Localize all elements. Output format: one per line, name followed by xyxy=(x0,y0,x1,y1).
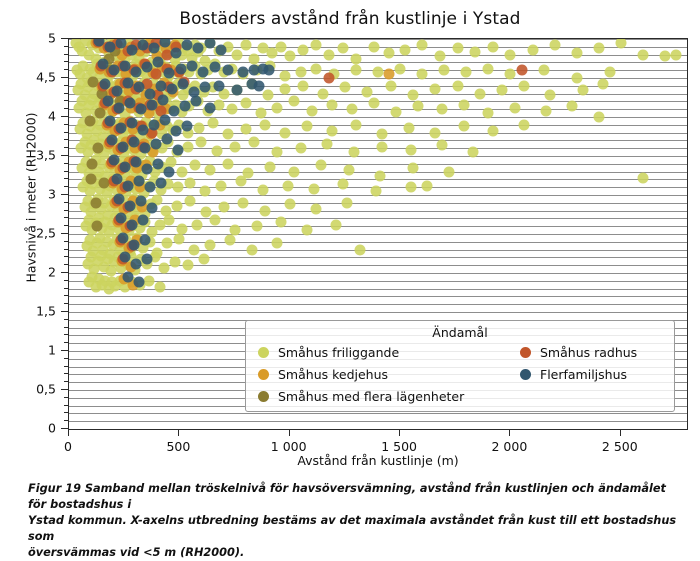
x-tick-major xyxy=(620,430,621,436)
scatter-point xyxy=(185,177,196,188)
scatter-point xyxy=(209,62,220,73)
y-tick-minor xyxy=(64,132,68,133)
scatter-point xyxy=(253,80,264,91)
scatter-point xyxy=(104,115,115,126)
scatter-point xyxy=(339,82,350,93)
scatter-point xyxy=(505,49,516,60)
y-tick-minor xyxy=(64,420,68,421)
y-tick-minor xyxy=(64,288,68,289)
scatter-point xyxy=(126,219,137,230)
scatter-point xyxy=(140,143,151,154)
scatter-point xyxy=(182,40,193,51)
scatter-point xyxy=(317,88,328,99)
scatter-point xyxy=(164,166,175,177)
scatter-point xyxy=(126,118,137,129)
scatter-point xyxy=(143,275,154,286)
scatter-point xyxy=(129,137,140,148)
scatter-point xyxy=(214,80,225,91)
scatter-point xyxy=(373,66,384,77)
caption-line: Ystad kommun. X-axelns utbredning bestäm… xyxy=(28,513,678,545)
scatter-point xyxy=(153,57,164,68)
y-tick-label: 5 xyxy=(48,31,56,46)
scatter-point xyxy=(166,83,177,94)
scatter-point xyxy=(271,102,282,113)
scatter-point xyxy=(149,119,160,130)
scatter-point xyxy=(604,66,615,77)
scatter-point xyxy=(137,39,148,50)
scatter-point xyxy=(298,44,309,55)
scatter-point xyxy=(430,83,441,94)
scatter-point xyxy=(326,126,337,137)
scatter-point xyxy=(487,41,498,52)
scatter-point xyxy=(135,196,146,207)
y-tick-minor xyxy=(64,210,68,211)
y-tick-minor xyxy=(64,69,68,70)
y-tick-minor xyxy=(64,241,68,242)
x-tick-major xyxy=(289,430,290,436)
y-tick-minor xyxy=(64,366,68,367)
scatter-point xyxy=(417,40,428,51)
scatter-point xyxy=(151,69,162,80)
x-tick-major xyxy=(178,430,179,436)
y-tick-label: 0 xyxy=(48,421,56,436)
scatter-point xyxy=(571,48,582,59)
scatter-point xyxy=(275,216,286,227)
x-tick-label: 500 xyxy=(166,439,190,454)
scatter-point xyxy=(216,180,227,191)
scatter-point xyxy=(240,98,251,109)
legend-item[interactable]: Småhus med flera lägenheter xyxy=(258,389,464,404)
scatter-point xyxy=(375,170,386,181)
y-tick-minor xyxy=(64,412,68,413)
scatter-point xyxy=(355,244,366,255)
scatter-point xyxy=(209,215,220,226)
scatter-point xyxy=(350,54,361,65)
legend-swatch-icon xyxy=(258,347,269,358)
y-tick-major xyxy=(61,389,68,390)
scatter-point xyxy=(247,244,258,255)
y-tick-minor xyxy=(64,171,68,172)
y-tick-label: 3 xyxy=(48,187,56,202)
y-axis-title: Havsnivå i meter (RH2000) xyxy=(24,3,39,393)
scatter-point xyxy=(92,143,103,154)
y-tick-minor xyxy=(64,256,68,257)
scatter-point xyxy=(578,84,589,95)
y-tick-label: 2,5 xyxy=(36,226,56,241)
scatter-point xyxy=(172,200,183,211)
scatter-point xyxy=(412,101,423,112)
scatter-point xyxy=(155,177,166,188)
scatter-point xyxy=(598,79,609,90)
y-tick-major xyxy=(61,233,68,234)
scatter-point xyxy=(140,235,151,246)
x-tick-label: 1 000 xyxy=(271,439,307,454)
scatter-point xyxy=(198,254,209,265)
legend-label: Småhus kedjehus xyxy=(278,367,388,382)
scatter-point xyxy=(185,196,196,207)
legend-items: Småhus friliggandeSmåhus kedjehusSmåhus … xyxy=(252,343,668,405)
scatter-point xyxy=(109,154,120,165)
scatter-point xyxy=(271,147,282,158)
scatter-point xyxy=(437,104,448,115)
scatter-point xyxy=(540,105,551,116)
scatter-point xyxy=(377,129,388,140)
scatter-point xyxy=(337,179,348,190)
scatter-point xyxy=(275,41,286,52)
scatter-point xyxy=(238,66,249,77)
scatter-point xyxy=(122,271,133,282)
scatter-point xyxy=(342,197,353,208)
scatter-point xyxy=(386,80,397,91)
scatter-point xyxy=(324,49,335,60)
y-tick-minor xyxy=(64,327,68,328)
scatter-point xyxy=(571,73,582,84)
scatter-point xyxy=(153,158,164,169)
y-tick-major xyxy=(61,155,68,156)
scatter-point xyxy=(174,233,185,244)
legend-label: Småhus friliggande xyxy=(278,345,399,360)
scatter-point xyxy=(149,43,160,54)
y-tick-major xyxy=(61,428,68,429)
scatter-point xyxy=(282,180,293,191)
legend-label: Småhus radhus xyxy=(540,345,637,360)
scatter-point xyxy=(154,282,165,293)
scatter-point xyxy=(637,49,648,60)
scatter-point xyxy=(280,83,291,94)
scatter-point xyxy=(421,180,432,191)
scatter-point xyxy=(197,66,208,77)
scatter-point xyxy=(131,258,142,269)
scatter-point xyxy=(350,119,361,130)
scatter-point xyxy=(368,98,379,109)
scatter-point xyxy=(567,101,578,112)
y-tick-minor xyxy=(64,280,68,281)
scatter-point xyxy=(137,215,148,226)
y-tick-major xyxy=(61,194,68,195)
x-tick-label: 2 500 xyxy=(602,439,638,454)
scatter-point xyxy=(671,49,682,60)
y-tick-minor xyxy=(64,342,68,343)
scatter-point xyxy=(146,202,157,213)
scatter-point xyxy=(160,115,171,126)
scatter-point xyxy=(377,141,388,152)
scatter-point xyxy=(205,239,216,250)
scatter-point xyxy=(545,90,556,101)
scatter-point xyxy=(271,238,282,249)
scatter-point xyxy=(229,141,240,152)
scatter-point xyxy=(344,165,355,176)
scatter-point xyxy=(311,63,322,74)
scatter-point xyxy=(459,99,470,110)
figure-caption: Figur 19 Samband mellan tröskelnivå för … xyxy=(28,481,678,561)
scatter-point xyxy=(406,144,417,155)
scatter-point xyxy=(124,98,135,109)
y-tick-minor xyxy=(64,217,68,218)
scatter-point xyxy=(171,126,182,137)
scatter-point xyxy=(406,182,417,193)
y-tick-major xyxy=(61,116,68,117)
y-tick-minor xyxy=(64,249,68,250)
caption-line: översvämmas vid <5 m (RH2000). xyxy=(28,545,678,561)
scatter-point xyxy=(107,135,118,146)
scatter-point xyxy=(133,277,144,288)
scatter-point xyxy=(284,199,295,210)
scatter-point xyxy=(182,121,193,132)
scatter-point xyxy=(175,63,186,74)
scatter-point xyxy=(322,138,333,149)
scatter-point xyxy=(122,180,133,191)
scatter-point xyxy=(102,96,113,107)
y-tick-minor xyxy=(64,334,68,335)
scatter-point xyxy=(260,119,271,130)
scatter-point xyxy=(249,137,260,148)
scatter-point xyxy=(467,147,478,158)
scatter-point xyxy=(362,87,373,98)
y-tick-minor xyxy=(64,139,68,140)
scatter-point xyxy=(549,40,560,51)
scatter-point xyxy=(348,147,359,158)
scatter-point xyxy=(222,158,233,169)
legend-title: Ändamål xyxy=(252,325,668,340)
y-tick-label: 0,5 xyxy=(36,382,56,397)
scatter-point xyxy=(120,60,131,71)
scatter-point xyxy=(326,100,337,111)
legend-swatch-icon xyxy=(258,391,269,402)
y-tick-minor xyxy=(64,46,68,47)
scatter-point xyxy=(240,40,251,51)
scatter-point xyxy=(144,88,155,99)
scatter-point xyxy=(196,137,207,148)
y-tick-major xyxy=(61,38,68,39)
scatter-point xyxy=(289,96,300,107)
scatter-point xyxy=(403,122,414,133)
scatter-point xyxy=(216,44,227,55)
scatter-point xyxy=(142,254,153,265)
legend-item[interactable]: Flerfamiljshus xyxy=(520,367,627,382)
y-tick-label: 4 xyxy=(48,109,56,124)
scatter-point xyxy=(302,121,313,132)
scatter-point xyxy=(280,127,291,138)
scatter-point xyxy=(189,160,200,171)
scatter-point xyxy=(98,59,109,70)
scatter-point xyxy=(306,105,317,116)
x-tick-label: 0 xyxy=(64,439,72,454)
scatter-point xyxy=(295,143,306,154)
scatter-point xyxy=(331,219,342,230)
y-tick-major xyxy=(61,272,68,273)
scatter-point xyxy=(85,115,96,126)
y-tick-minor xyxy=(64,264,68,265)
scatter-point xyxy=(593,112,604,123)
scatter-point xyxy=(659,51,670,62)
scatter-point xyxy=(289,166,300,177)
legend: Ändamål Småhus friliggandeSmåhus kedjehu… xyxy=(245,320,675,412)
y-tick-minor xyxy=(64,85,68,86)
scatter-point xyxy=(186,60,197,71)
scatter-point xyxy=(337,43,348,54)
y-tick-minor xyxy=(64,405,68,406)
scatter-point xyxy=(284,51,295,62)
scatter-point xyxy=(162,238,173,249)
scatter-point xyxy=(155,80,166,91)
y-tick-major xyxy=(61,77,68,78)
y-tick-minor xyxy=(64,124,68,125)
x-tick-label: 2 000 xyxy=(491,439,527,454)
scatter-point xyxy=(193,43,204,54)
scatter-point xyxy=(126,44,137,55)
scatter-point xyxy=(346,104,357,115)
scatter-point xyxy=(483,108,494,119)
scatter-point xyxy=(133,82,144,93)
scatter-point xyxy=(115,213,126,224)
scatter-point xyxy=(509,102,520,113)
scatter-point xyxy=(225,235,236,246)
scatter-point xyxy=(86,174,97,185)
scatter-point xyxy=(169,257,180,268)
scatter-point xyxy=(176,166,187,177)
x-axis-title: Avstånd från kustlinje (m) xyxy=(68,453,688,468)
scatter-point xyxy=(295,66,306,77)
scatter-point xyxy=(231,84,242,95)
scatter-point xyxy=(100,79,111,90)
x-tick-major xyxy=(399,430,400,436)
scatter-point xyxy=(249,53,260,64)
y-tick-label: 1,5 xyxy=(36,304,56,319)
scatter-point xyxy=(199,82,210,93)
scatter-point xyxy=(144,182,155,193)
scatter-point xyxy=(315,160,326,171)
scatter-point xyxy=(179,101,190,112)
scatter-point xyxy=(368,41,379,52)
scatter-point xyxy=(302,225,313,236)
legend-swatch-icon xyxy=(258,369,269,380)
scatter-point xyxy=(218,201,229,212)
scatter-point xyxy=(384,48,395,59)
scatter-point xyxy=(90,197,101,208)
scatter-point xyxy=(109,65,120,76)
scatter-point xyxy=(439,65,450,76)
scatter-point xyxy=(459,121,470,132)
scatter-point xyxy=(408,90,419,101)
scatter-point xyxy=(487,126,498,137)
scatter-point xyxy=(311,40,322,51)
legend-item[interactable]: Småhus friliggande xyxy=(258,345,399,360)
scatter-point xyxy=(162,133,173,144)
y-tick-minor xyxy=(64,100,68,101)
scatter-point xyxy=(205,102,216,113)
y-tick-minor xyxy=(64,381,68,382)
legend-label: Småhus med flera lägenheter xyxy=(278,389,464,404)
scatter-point xyxy=(94,108,105,119)
scatter-point xyxy=(260,205,271,216)
scatter-point xyxy=(222,129,233,140)
scatter-point xyxy=(164,68,175,79)
scatter-point xyxy=(350,65,361,76)
caption-line: Figur 19 Samband mellan tröskelnivå för … xyxy=(28,481,678,513)
scatter-point xyxy=(111,174,122,185)
scatter-point xyxy=(399,44,410,55)
scatter-point xyxy=(231,49,242,60)
scatter-point xyxy=(538,65,549,76)
scatter-point xyxy=(157,94,168,105)
figure-container: Bostäders avstånd från kustlinje i Ystad… xyxy=(0,0,700,530)
scatter-point xyxy=(395,63,406,74)
scatter-point xyxy=(118,232,129,243)
scatter-point xyxy=(408,162,419,173)
legend-item[interactable]: Småhus kedjehus xyxy=(258,367,388,382)
scatter-point xyxy=(122,77,133,88)
scatter-point xyxy=(205,165,216,176)
scatter-point xyxy=(146,99,157,110)
scatter-point xyxy=(120,252,131,263)
scatter-point xyxy=(280,71,291,82)
scatter-point xyxy=(470,46,481,57)
scatter-point xyxy=(238,197,249,208)
y-tick-minor xyxy=(64,202,68,203)
legend-swatch-icon xyxy=(520,369,531,380)
scatter-point xyxy=(142,163,153,174)
scatter-point xyxy=(258,185,269,196)
scatter-point xyxy=(615,38,626,48)
scatter-point xyxy=(183,141,194,152)
y-tick-minor xyxy=(64,186,68,187)
y-tick-minor xyxy=(64,303,68,304)
y-tick-label: 4,5 xyxy=(36,70,56,85)
scatter-point xyxy=(164,215,175,226)
scatter-point xyxy=(131,66,142,77)
scatter-point xyxy=(452,43,463,54)
scatter-point xyxy=(131,157,142,168)
scatter-point xyxy=(211,146,222,157)
x-tick-major xyxy=(68,430,69,436)
y-tick-minor xyxy=(64,178,68,179)
scatter-point xyxy=(120,161,131,172)
y-tick-minor xyxy=(64,319,68,320)
scatter-point xyxy=(240,123,251,134)
y-tick-minor xyxy=(64,163,68,164)
scatter-point xyxy=(173,182,184,193)
scatter-point xyxy=(256,108,267,119)
scatter-point xyxy=(194,122,205,133)
scatter-point xyxy=(151,138,162,149)
scatter-point xyxy=(87,158,98,169)
scatter-point xyxy=(593,43,604,54)
scatter-point xyxy=(637,172,648,183)
y-tick-label: 1 xyxy=(48,343,56,358)
y-tick-minor xyxy=(64,373,68,374)
scatter-point xyxy=(192,219,203,230)
scatter-point xyxy=(91,221,102,232)
scatter-point xyxy=(137,124,148,135)
scatter-point xyxy=(518,119,529,130)
scatter-point xyxy=(142,62,153,73)
scatter-point xyxy=(262,90,273,101)
x-tick-label: 1 500 xyxy=(381,439,417,454)
y-tick-minor xyxy=(64,295,68,296)
scatter-point xyxy=(104,41,115,52)
legend-item[interactable]: Småhus radhus xyxy=(520,345,637,360)
scatter-point xyxy=(168,105,179,116)
scatter-point xyxy=(527,44,538,55)
y-tick-major xyxy=(61,350,68,351)
scatter-point xyxy=(443,166,454,177)
scatter-point xyxy=(251,221,262,232)
scatter-point xyxy=(113,102,124,113)
scatter-point xyxy=(135,104,146,115)
scatter-point xyxy=(222,65,233,76)
y-tick-minor xyxy=(64,397,68,398)
scatter-point xyxy=(124,200,135,211)
